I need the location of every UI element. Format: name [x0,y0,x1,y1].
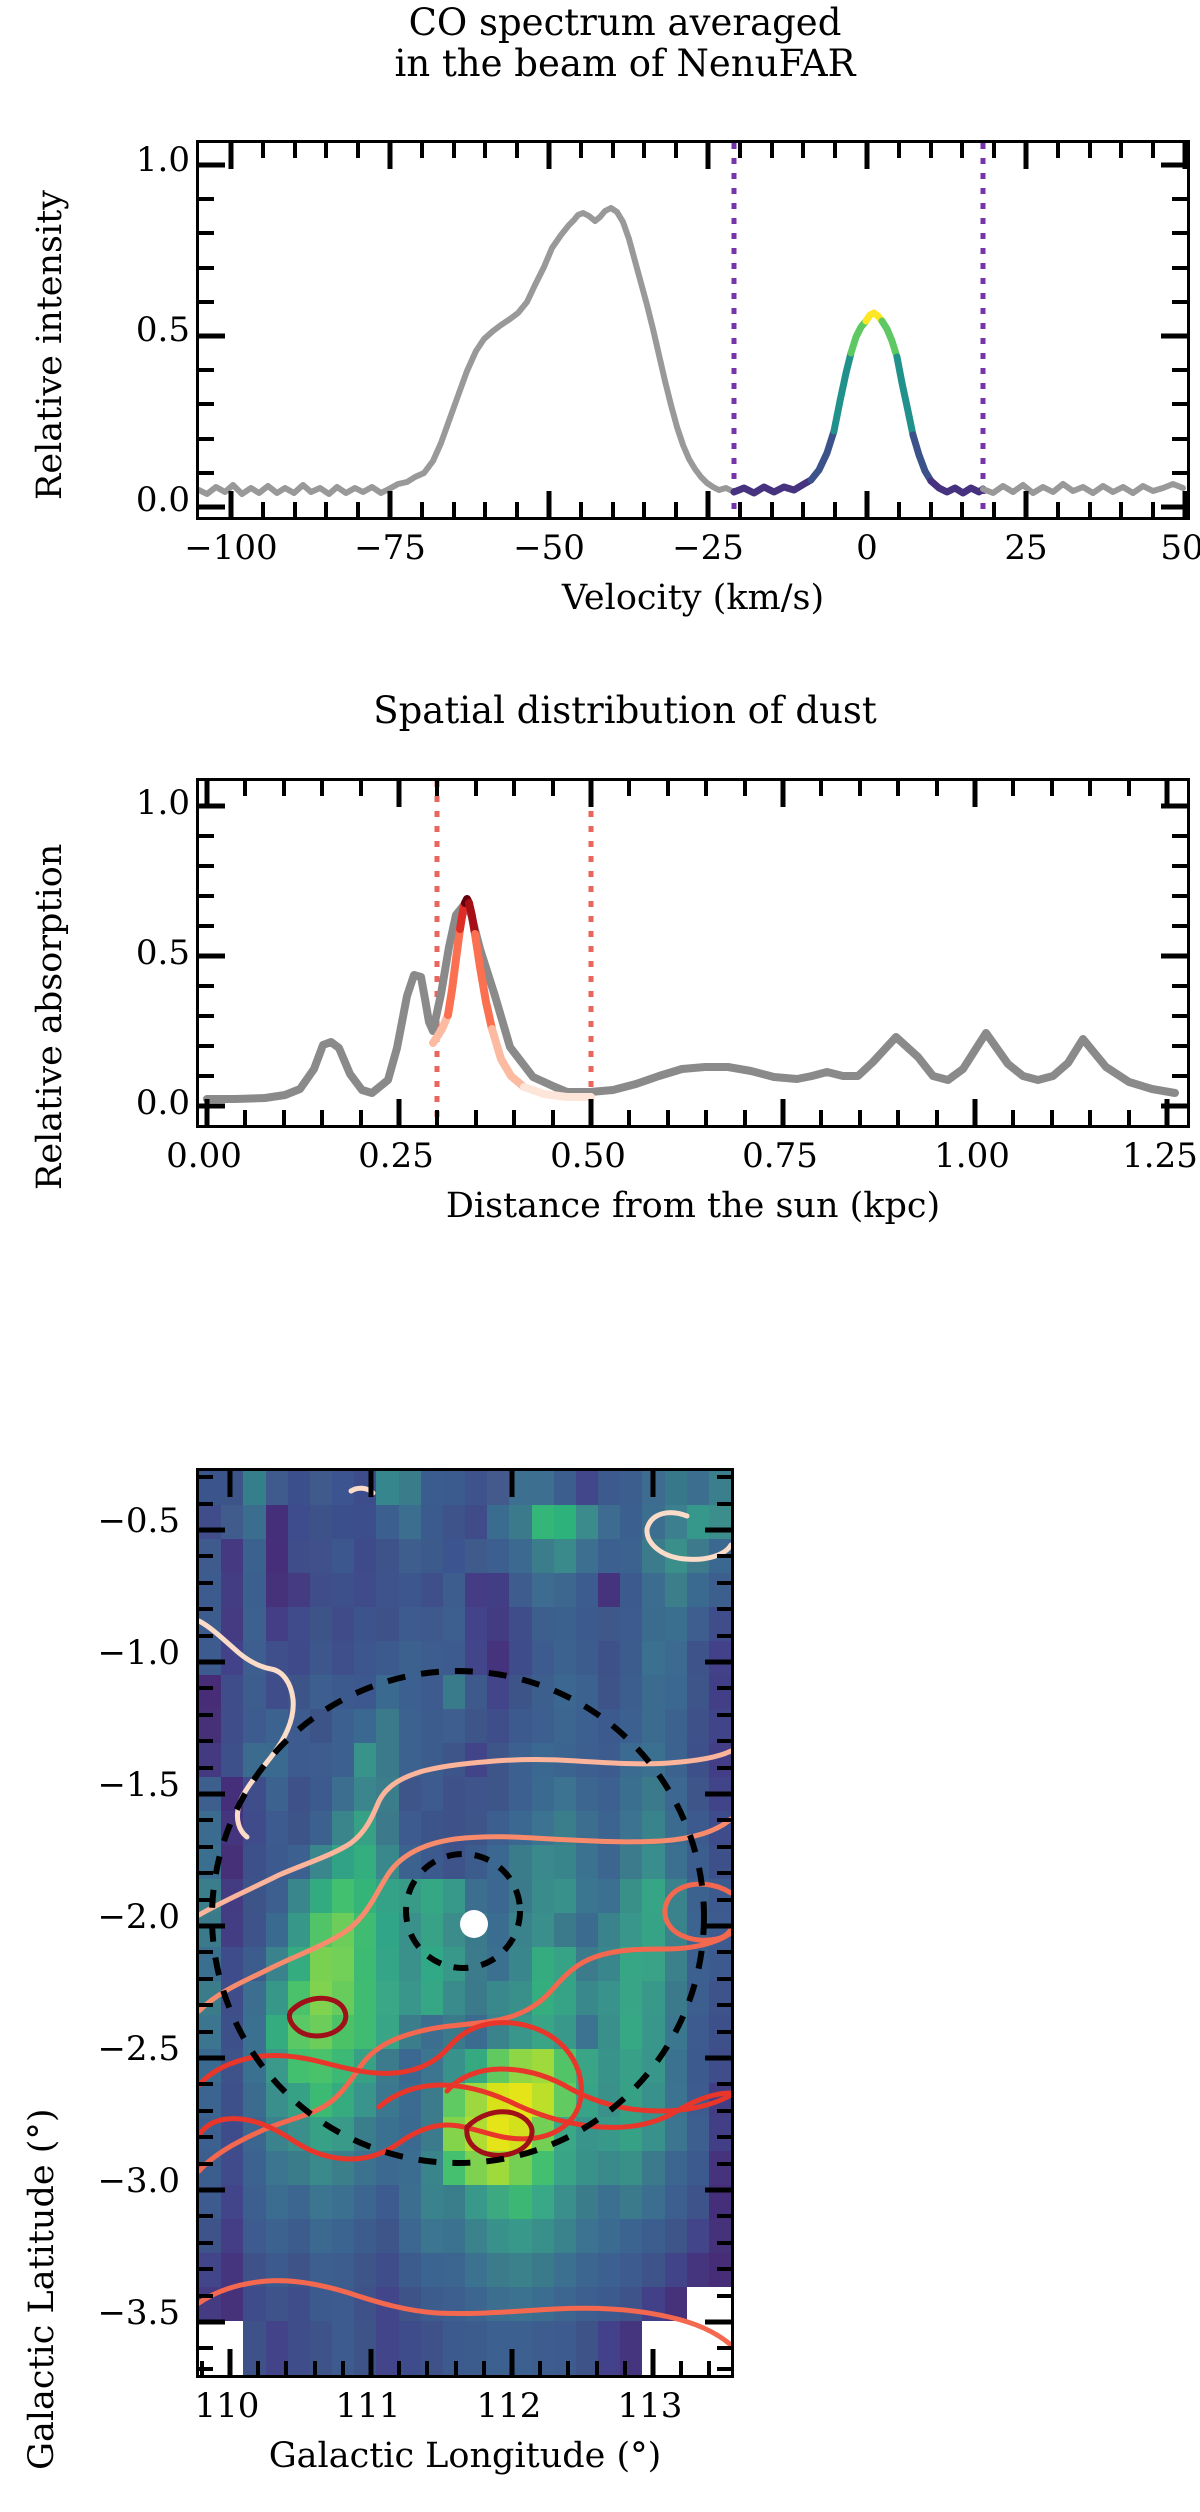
co-curve-viridis-fall [931,481,983,493]
co-x-major-ticks [231,143,1185,517]
map-ytick-m2_5: −2.5 [60,2029,180,2069]
map-xtick-110: 110 [195,2386,260,2426]
source-position-marker [460,1910,488,1938]
co-curve-viridis-seg8 [913,435,931,481]
dust-ytick-0_5: 0.5 [90,933,190,973]
map-ytick-m0_5: −0.5 [60,1501,180,1541]
co-ytick-0_0: 0.0 [90,480,190,520]
co-xtick-m75: −75 [354,528,426,568]
dust-svg [199,781,1187,1125]
panel-dust-title: Spatial distribution of dust [100,690,1150,731]
co-spectrum-xlabel: Velocity (km/s) [196,578,1190,618]
map-pixel-grid [199,1471,731,2375]
co-y-minor-ticks [199,199,1187,473]
dust-xtick-0_75: 0.75 [742,1136,818,1176]
co-curve-viridis-seg3 [834,353,851,431]
dust-curve-grey [207,905,1175,1099]
co-curve-viridis-rise [734,480,811,493]
co-spectrum-plot-area [196,140,1190,520]
co-xtick-50: 50 [1160,528,1200,568]
dust-plot-area [196,778,1190,1128]
co-xtick-25: 25 [1004,528,1047,568]
co-ytick-0_5: 0.5 [90,310,190,350]
co-spectrum-svg [199,143,1187,517]
map-ytick-m3_0: −3.0 [60,2161,180,2201]
map-xlabel: Galactic Longitude (°) [196,2436,734,2476]
map-ytick-m1_5: −1.5 [60,1765,180,1805]
co-y-major-ticks [199,165,1187,507]
map-ytick-m2_0: −2.0 [60,1897,180,1937]
co-ytick-1_0: 1.0 [90,140,190,180]
map-svg [199,1471,731,2375]
dust-xtick-1_25: 1.25 [1122,1136,1198,1176]
dust-xtick-0_50: 0.50 [550,1136,626,1176]
co-xtick-m25: −25 [672,528,744,568]
co-curve-grey-right [983,484,1183,493]
panel-dust-distribution: Spatial distribution of dust Relative ab… [0,690,1200,1310]
co-curve-grey-left [199,208,734,494]
co-curve-viridis-seg7 [897,357,913,435]
panel-co-spectrum: CO spectrum averaged in the beam of Nenu… [0,0,1200,640]
panel-dust-ylabel: Relative absorption [30,844,70,1190]
panel-co-spectrum-ylabel: Relative intensity [30,190,70,500]
map-xtick-112: 112 [477,2386,542,2426]
map-ytick-m1_0: −1.0 [60,1633,180,1673]
map-plot-area [196,1468,734,2378]
dust-ytick-1_0: 1.0 [90,783,190,823]
dust-xtick-1_00: 1.00 [934,1136,1010,1176]
map-xtick-111: 111 [336,2386,401,2426]
dust-xtick-0_25: 0.25 [358,1136,434,1176]
map-ylabel: Galactic Latitude (°) [22,2108,62,2470]
dust-ytick-0_0: 0.0 [90,1083,190,1123]
co-xtick-0: 0 [856,528,878,568]
figure-root: CO spectrum averaged in the beam of Nenu… [0,0,1200,2512]
panel-co-spectrum-title: CO spectrum averaged in the beam of Nenu… [100,2,1150,85]
co-curve-viridis-seg6 [882,321,897,357]
dust-xtick-0_00: 0.00 [166,1136,242,1176]
map-xtick-113: 113 [618,2386,683,2426]
co-x-minor-ticks [263,143,1153,517]
dust-curve-reds-fall-strong [469,903,475,934]
co-curve-viridis-seg2 [811,431,834,480]
map-ytick-m3_5: −3.5 [60,2293,180,2333]
co-xtick-m100: −100 [184,528,277,568]
dust-x-minor-ticks [245,781,1129,1125]
co-xtick-m50: −50 [513,528,585,568]
dust-y-minor-ticks [199,836,1187,1076]
co-curve-viridis-seg4 [851,321,866,353]
panel-galactic-map: Galactic Latitude (°) −0.5 −1.0 −1.5 −2.… [0,1380,1200,2512]
dust-xlabel: Distance from the sun (kpc) [196,1186,1190,1226]
